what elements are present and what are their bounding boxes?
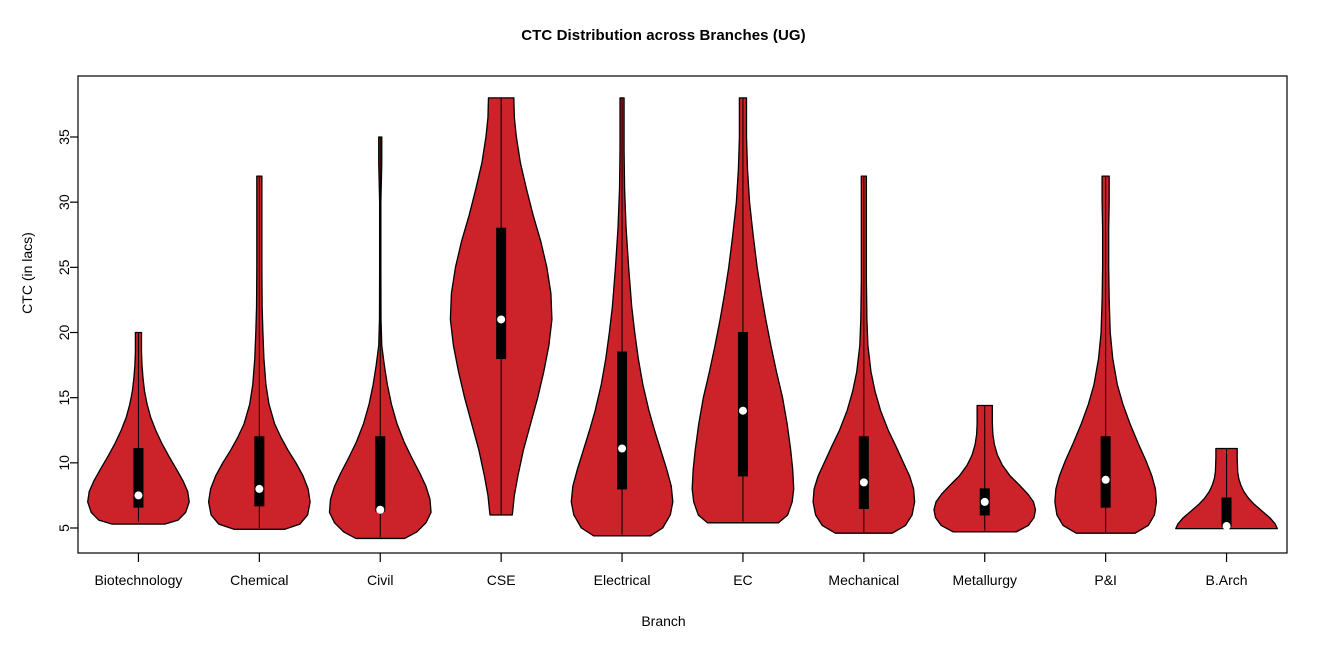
violin-median-point [255, 485, 263, 493]
y-axis-tick-label: 20 [56, 325, 72, 341]
y-axis-tick-label: 5 [56, 524, 72, 532]
violin-mechanical [813, 176, 915, 533]
y-axis-tick-label: 15 [56, 390, 72, 406]
x-axis-tick-label: Metallurgy [952, 572, 1017, 588]
violin-median-point [134, 491, 142, 499]
violin-biotechnology [88, 333, 190, 525]
violin-median-point [1102, 476, 1110, 484]
violin-p-i [1055, 176, 1157, 533]
x-axis-tick-label: EC [733, 572, 752, 588]
violin-metallurgy [934, 405, 1036, 531]
violin-iqr-box [1101, 437, 1110, 507]
violin-median-point [497, 315, 505, 323]
violin-median-point [981, 498, 989, 506]
x-axis-tick-label: Civil [367, 572, 393, 588]
violin-cse [450, 98, 552, 515]
violin-iqr-box [738, 333, 747, 476]
y-axis-tick-label: 35 [56, 129, 72, 145]
x-axis-tick-label: Chemical [230, 572, 288, 588]
violin-chart: CTC Distribution across Branches (UG) CT… [0, 0, 1327, 653]
y-axis-tick-label: 30 [56, 194, 72, 210]
violin-median-point [1223, 522, 1231, 530]
x-axis-tick-label: B.Arch [1206, 572, 1248, 588]
violin-iqr-box [255, 437, 264, 506]
violin-chemical [209, 176, 311, 529]
violin-ec [692, 98, 794, 523]
x-axis-tick-label: P&I [1094, 572, 1117, 588]
x-axis-tick-label: Electrical [594, 572, 651, 588]
x-axis-tick-label: Biotechnology [94, 572, 182, 588]
violin-iqr-box [497, 228, 506, 358]
violin-electrical [571, 98, 673, 536]
x-axis-tick-label: CSE [487, 572, 516, 588]
violin-b-arch [1176, 448, 1278, 530]
violin-median-point [739, 407, 747, 415]
violin-median-point [860, 478, 868, 486]
y-axis-tick-label: 10 [56, 455, 72, 471]
violin-civil [329, 137, 431, 538]
plot-area: 5101520253035BiotechnologyChemicalCivilC… [0, 0, 1327, 653]
y-axis-tick-label: 25 [56, 259, 72, 275]
violin-median-point [618, 444, 626, 452]
violin-iqr-box [376, 437, 385, 511]
violin-iqr-box [618, 352, 627, 489]
x-axis-tick-label: Mechanical [828, 572, 899, 588]
violin-iqr-box [859, 437, 868, 509]
violin-median-point [376, 506, 384, 514]
